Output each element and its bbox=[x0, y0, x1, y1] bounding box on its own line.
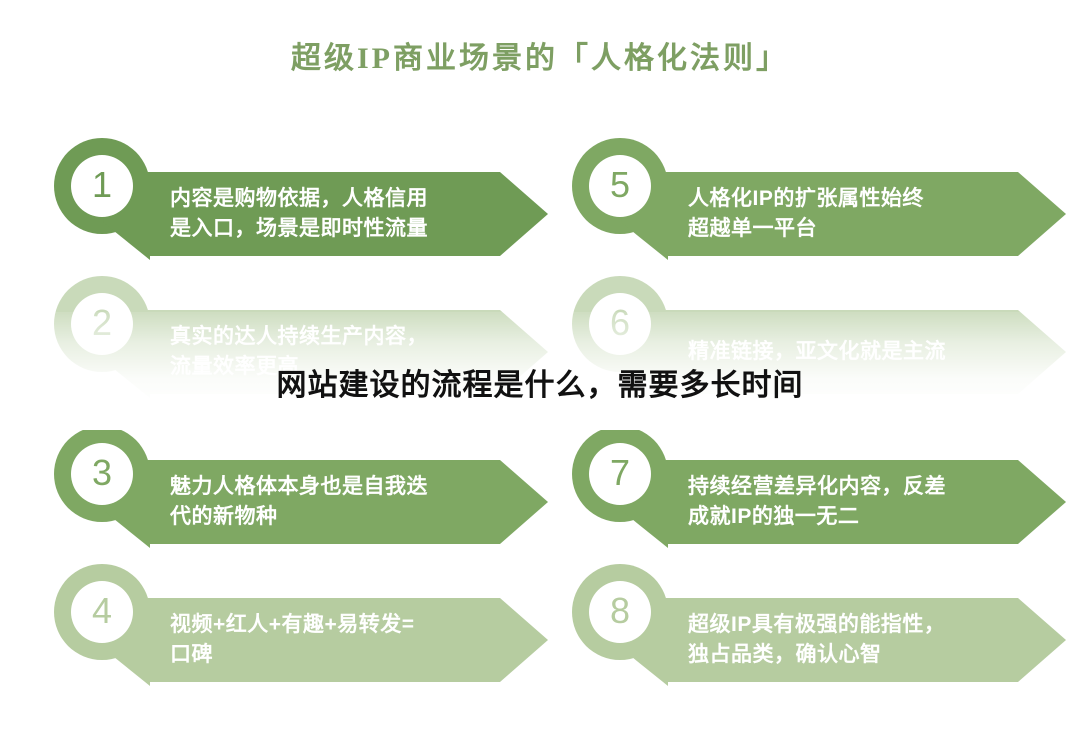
pin-number: 2 bbox=[92, 305, 112, 344]
banner-line: 真实的达人持续生产内容， bbox=[170, 322, 428, 352]
banner-line: 内容是购物依据，人格信用 bbox=[170, 184, 428, 214]
pin-marker-5: 5 bbox=[566, 138, 674, 263]
pin-number-disc: 5 bbox=[589, 155, 651, 217]
banner-text: 魅力人格体本身也是自我迭 代的新物种 bbox=[148, 472, 480, 532]
banner-line: 超越单一平台 bbox=[688, 214, 924, 244]
list-item: 1 内容是购物依据，人格信用 是入口，场景是即时性流量 bbox=[48, 130, 548, 270]
banner-text: 人格化IP的扩张属性始终 超越单一平台 bbox=[666, 184, 976, 244]
pin-number-disc: 3 bbox=[71, 443, 133, 505]
pin-marker-8: 8 bbox=[566, 564, 674, 689]
banner-text: 持续经营差异化内容，反差 成就IP的独一无二 bbox=[666, 472, 998, 532]
pin-number: 1 bbox=[92, 167, 112, 206]
banner-line: 视频+红人+有趣+易转发= bbox=[170, 610, 415, 640]
pin-marker-3: 3 bbox=[48, 426, 156, 551]
banner-text: 视频+红人+有趣+易转发= 口碑 bbox=[148, 610, 467, 670]
pin-number: 7 bbox=[610, 455, 630, 494]
banner-text: 内容是购物依据，人格信用 是入口，场景是即时性流量 bbox=[148, 184, 480, 244]
list-item: 3 魅力人格体本身也是自我迭 代的新物种 bbox=[48, 418, 548, 558]
pin-number: 4 bbox=[92, 593, 112, 632]
overlay-headline: 网站建设的流程是什么，需要多长时间 bbox=[0, 360, 1080, 404]
list-item: 5 人格化IP的扩张属性始终 超越单一平台 bbox=[566, 130, 1066, 270]
banner-line: 是入口，场景是即时性流量 bbox=[170, 214, 428, 244]
banner-line: 人格化IP的扩张属性始终 bbox=[688, 184, 924, 214]
pin-marker-4: 4 bbox=[48, 564, 156, 689]
banner-text: 超级IP具有极强的能指性， 独占品类，确认心智 bbox=[666, 610, 997, 670]
arrow-banner-4: 视频+红人+有趣+易转发= 口碑 bbox=[148, 598, 548, 682]
pin-number-disc: 8 bbox=[589, 581, 651, 643]
pin-number: 3 bbox=[92, 455, 112, 494]
list-item: 4 视频+红人+有趣+易转发= 口碑 bbox=[48, 556, 548, 696]
banner-line: 魅力人格体本身也是自我迭 bbox=[170, 472, 428, 502]
pin-number-disc: 4 bbox=[71, 581, 133, 643]
list-item: 8 超级IP具有极强的能指性， 独占品类，确认心智 bbox=[566, 556, 1066, 696]
banner-line: 口碑 bbox=[170, 640, 415, 670]
pin-number-disc: 6 bbox=[589, 293, 651, 355]
banner-line: 独占品类，确认心智 bbox=[688, 640, 945, 670]
banner-line: 代的新物种 bbox=[170, 502, 428, 532]
banner-line: 超级IP具有极强的能指性， bbox=[688, 610, 945, 640]
arrow-banner-5: 人格化IP的扩张属性始终 超越单一平台 bbox=[666, 172, 1066, 256]
pin-number: 8 bbox=[610, 593, 630, 632]
pin-number-disc: 7 bbox=[589, 443, 651, 505]
pin-marker-7: 7 bbox=[566, 426, 674, 551]
arrow-banner-8: 超级IP具有极强的能指性， 独占品类，确认心智 bbox=[666, 598, 1066, 682]
banner-line: 成就IP的独一无二 bbox=[688, 502, 946, 532]
pin-number: 5 bbox=[610, 167, 630, 206]
list-item: 7 持续经营差异化内容，反差 成就IP的独一无二 bbox=[566, 418, 1066, 558]
infographic-canvas: 超级IP商业场景的「人格化法则」 1 内容是购物依据，人格信用 是入口，场景是即… bbox=[0, 0, 1080, 745]
pin-marker-1: 1 bbox=[48, 138, 156, 263]
arrow-banner-7: 持续经营差异化内容，反差 成就IP的独一无二 bbox=[666, 460, 1066, 544]
banner-line: 持续经营差异化内容，反差 bbox=[688, 472, 946, 502]
arrow-banner-1: 内容是购物依据，人格信用 是入口，场景是即时性流量 bbox=[148, 172, 548, 256]
arrow-banner-3: 魅力人格体本身也是自我迭 代的新物种 bbox=[148, 460, 548, 544]
pin-number: 6 bbox=[610, 305, 630, 344]
page-title: 超级IP商业场景的「人格化法则」 bbox=[0, 33, 1080, 77]
pin-number-disc: 2 bbox=[71, 293, 133, 355]
pin-number-disc: 1 bbox=[71, 155, 133, 217]
